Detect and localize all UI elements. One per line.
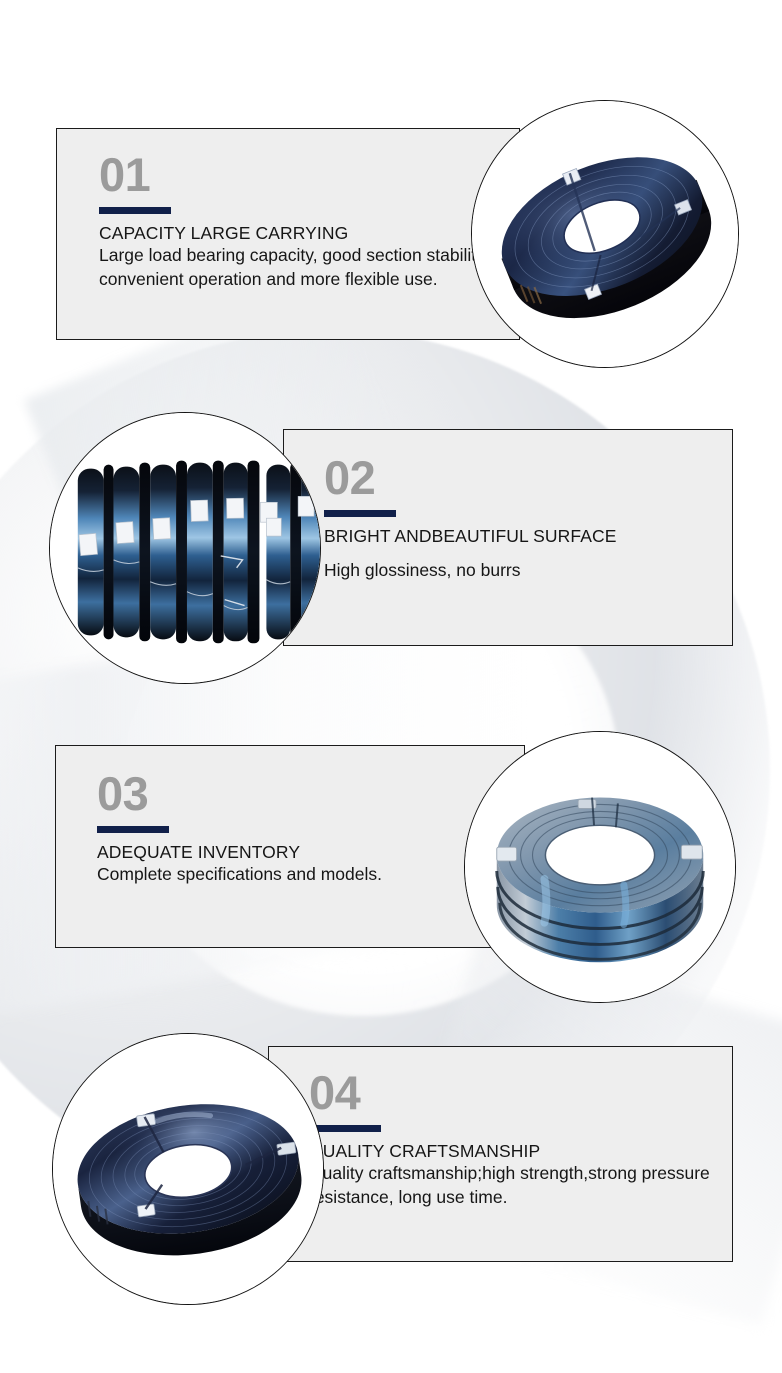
feature-number-03: 03 bbox=[97, 770, 382, 817]
feature-number-02: 02 bbox=[324, 454, 616, 501]
feature-title-01: CAPACITY LARGE CARRYING bbox=[99, 222, 519, 244]
stacked-blue-steel-strip-coils-icon bbox=[50, 413, 320, 683]
feature-description-04: Quality craftsmanship;high strength,stro… bbox=[309, 1162, 732, 1209]
accent-rule-03 bbox=[97, 826, 169, 833]
feature-title-02: BRIGHT ANDBEAUTIFUL SURFACE bbox=[324, 525, 616, 547]
feature-card-03: 03 ADEQUATE INVENTORY Complete specifica… bbox=[55, 745, 525, 948]
blue-steel-strapping-ring-coil-icon bbox=[465, 732, 735, 1002]
feature-card-04: 04 QUALITY CRAFTSMANSHIP Quality craftsm… bbox=[268, 1046, 733, 1262]
accent-rule-01 bbox=[99, 207, 171, 214]
feature-title-03: ADEQUATE INVENTORY bbox=[97, 841, 382, 863]
feature-title-04: QUALITY CRAFTSMANSHIP bbox=[309, 1140, 732, 1162]
feature-image-01 bbox=[471, 100, 739, 368]
feature-description-01: Large load bearing capacity, good sectio… bbox=[99, 244, 519, 291]
feature-image-02 bbox=[49, 412, 321, 684]
feature-image-04 bbox=[52, 1033, 324, 1305]
dark-blue-steel-strapping-coil-flat-icon bbox=[53, 1034, 323, 1304]
steel-strapping-coil-angled-icon bbox=[472, 101, 738, 367]
feature-card-04-body: 04 QUALITY CRAFTSMANSHIP Quality craftsm… bbox=[269, 1047, 732, 1209]
feature-description-03: Complete specifications and models. bbox=[97, 863, 382, 886]
feature-card-02: 02 BRIGHT ANDBEAUTIFUL SURFACE High glos… bbox=[283, 429, 733, 646]
accent-rule-02 bbox=[324, 510, 396, 517]
feature-card-03-body: 03 ADEQUATE INVENTORY Complete specifica… bbox=[56, 746, 382, 887]
feature-list: 01 CAPACITY LARGE CARRYING Large load be… bbox=[0, 0, 782, 1373]
feature-description-02: High glossiness, no burrs bbox=[324, 559, 616, 582]
feature-card-01-body: 01 CAPACITY LARGE CARRYING Large load be… bbox=[57, 129, 519, 291]
feature-card-02-body: 02 BRIGHT ANDBEAUTIFUL SURFACE High glos… bbox=[284, 430, 616, 583]
feature-card-01: 01 CAPACITY LARGE CARRYING Large load be… bbox=[56, 128, 520, 340]
feature-image-03 bbox=[464, 731, 736, 1003]
accent-rule-04 bbox=[309, 1125, 381, 1132]
feature-number-01: 01 bbox=[99, 151, 519, 198]
feature-number-04: 04 bbox=[309, 1069, 732, 1116]
